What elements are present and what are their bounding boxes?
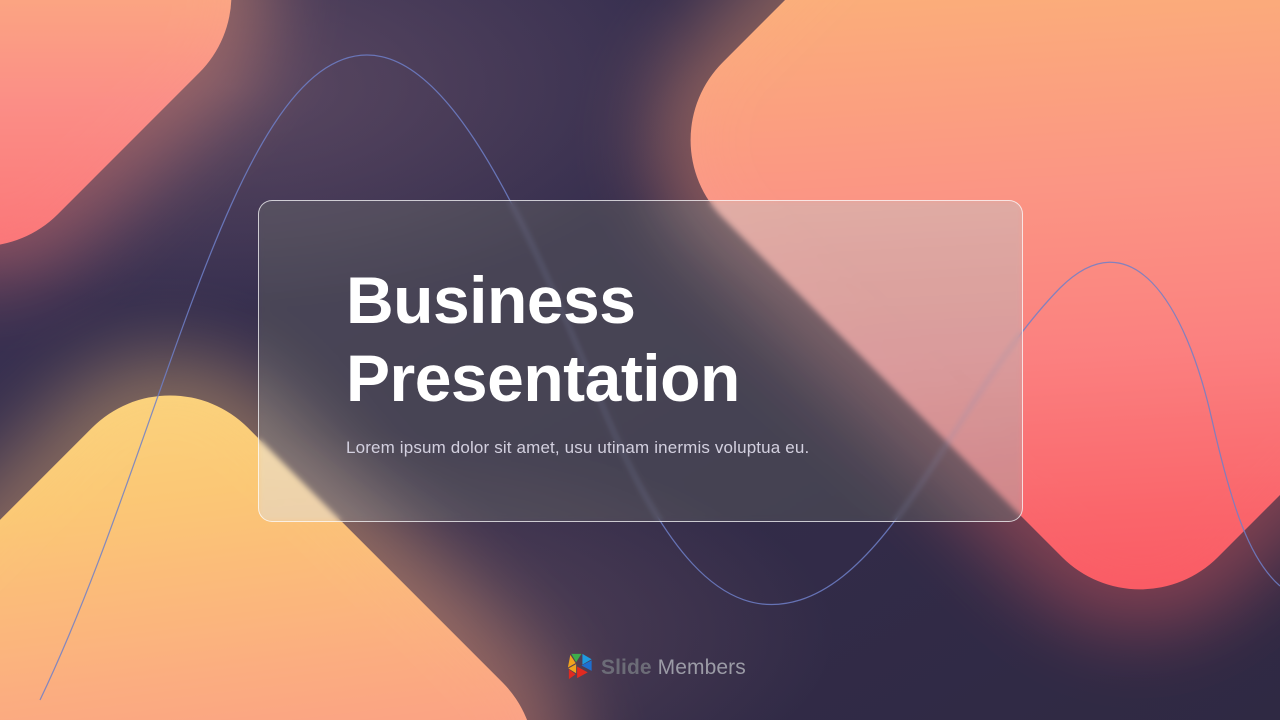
slide-members-logo-icon	[566, 652, 594, 682]
brand-name-primary: Slide	[601, 656, 652, 679]
title-text-block: Business Presentation Lorem ipsum dolor …	[346, 262, 986, 460]
brand-name: Slide Members	[601, 657, 746, 678]
title-line-1: Business	[346, 263, 635, 337]
page-subtitle: Lorem ipsum dolor sit amet, usu utinam i…	[346, 436, 986, 460]
brand-name-secondary: Members	[652, 656, 746, 679]
title-line-2: Presentation	[346, 341, 740, 415]
brand-footer: Slide Members	[566, 652, 746, 682]
page-title: Business Presentation	[346, 262, 986, 418]
presentation-slide: Business Presentation Lorem ipsum dolor …	[0, 0, 1280, 720]
